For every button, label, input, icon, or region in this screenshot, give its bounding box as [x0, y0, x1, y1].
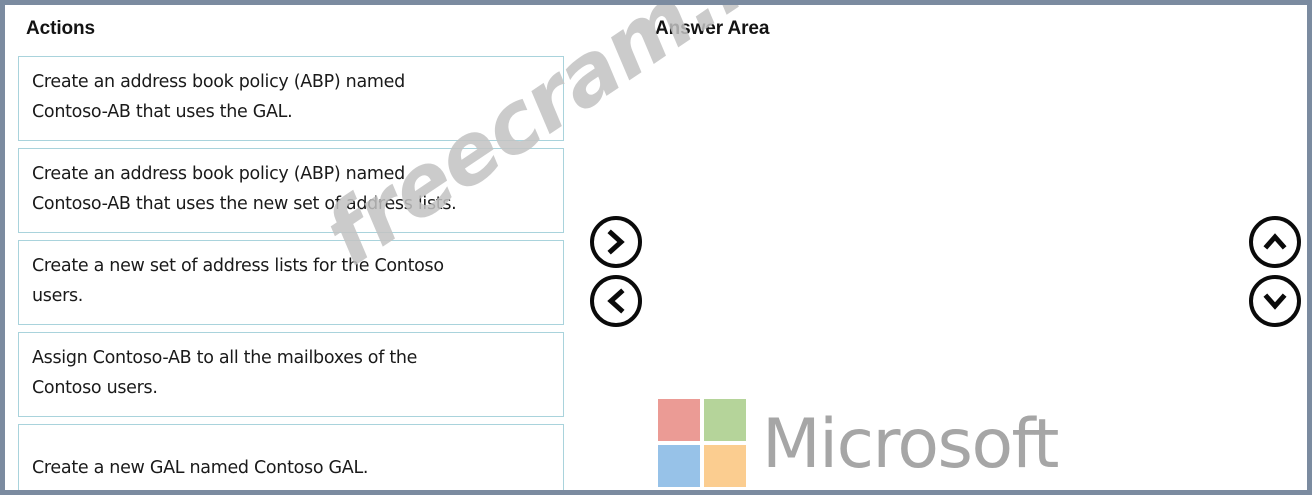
action-item-abp-new-address-lists[interactable]: Create an address book policy (ABP) name…	[18, 148, 564, 233]
action-item-create-address-lists[interactable]: Create a new set of address lists for th…	[18, 240, 564, 325]
move-down-button[interactable]	[1249, 275, 1301, 327]
action-item-line: Create a new set of address lists for th…	[32, 251, 550, 281]
action-item-create-gal[interactable]: Create a new GAL named Contoso GAL.	[18, 424, 564, 495]
action-item-assign-abp[interactable]: Assign Contoso-AB to all the mailboxes o…	[18, 332, 564, 417]
action-item-line: Assign Contoso-AB to all the mailboxes o…	[32, 343, 550, 373]
chevron-left-icon	[603, 288, 629, 314]
move-left-button[interactable]	[590, 275, 642, 327]
answer-area-column-header: Answer Area	[655, 18, 769, 40]
chevron-down-icon	[1262, 288, 1288, 314]
microsoft-logo-grid-icon	[658, 399, 746, 487]
action-item-line: Create an address book policy (ABP) name…	[32, 67, 550, 97]
action-item-line: Create a new GAL named Contoso GAL.	[32, 453, 368, 483]
logo-square-top-right	[704, 399, 746, 441]
action-item-line: users.	[32, 281, 550, 311]
logo-square-top-left	[658, 399, 700, 441]
actions-list: Create an address book policy (ABP) name…	[18, 56, 564, 495]
action-item-line: Contoso-AB that uses the GAL.	[32, 97, 550, 127]
microsoft-logo: Microsoft	[658, 399, 1058, 487]
action-item-abp-gal[interactable]: Create an address book policy (ABP) name…	[18, 56, 564, 141]
action-item-line: Contoso-AB that uses the new set of addr…	[32, 189, 550, 219]
action-item-line: Contoso users.	[32, 373, 550, 403]
logo-square-bottom-right	[704, 445, 746, 487]
question-canvas: freecram.net Actions Answer Area Create …	[0, 0, 1312, 495]
microsoft-wordmark: Microsoft	[762, 411, 1058, 479]
chevron-right-icon	[603, 229, 629, 255]
logo-square-bottom-left	[658, 445, 700, 487]
action-item-line: Create an address book policy (ABP) name…	[32, 159, 550, 189]
chevron-up-icon	[1262, 229, 1288, 255]
move-right-button[interactable]	[590, 216, 642, 268]
move-up-button[interactable]	[1249, 216, 1301, 268]
actions-column-header: Actions	[26, 18, 95, 40]
